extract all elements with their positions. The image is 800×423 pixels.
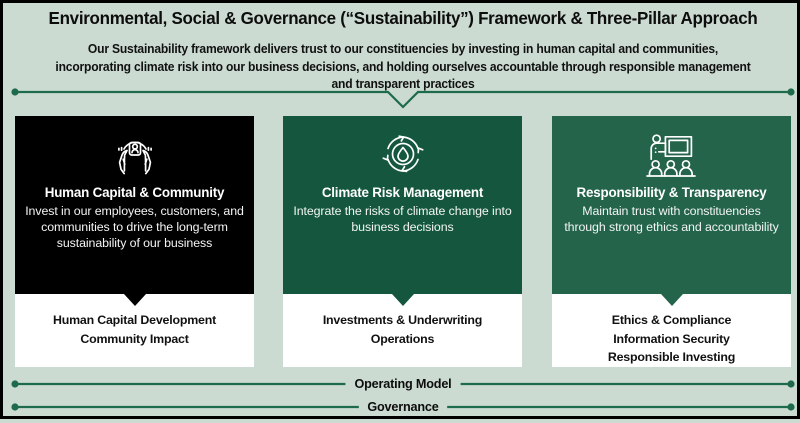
connector-path (15, 92, 791, 107)
governance-label: Governance (359, 400, 448, 414)
pillar-description: Integrate the risks of climate change in… (291, 203, 514, 235)
footer-bar-group: Operating Model Governance (3, 371, 800, 419)
footer-bar-governance: Governance (3, 396, 800, 418)
pillar-title: Climate Risk Management (291, 185, 514, 201)
pillar-header: Responsibility & Transparency Maintain t… (552, 116, 791, 294)
list-item[interactable]: Information Security (552, 330, 791, 349)
page-title: Environmental, Social & Governance (“Sus… (15, 8, 791, 29)
pillar-title: Responsibility & Transparency (560, 185, 783, 201)
list-item[interactable]: Human Capital Development (15, 311, 254, 330)
pillar-card-human-capital-community[interactable]: Human Capital & Community Invest in our … (15, 116, 254, 367)
hands-holding-person-icon (23, 126, 246, 182)
governance-label-wrap: Governance (19, 396, 787, 418)
connector-right-dot (787, 88, 794, 95)
operating-model-label: Operating Model (346, 377, 460, 391)
pillar-description: Maintain trust with constituencies throu… (560, 203, 783, 235)
pillar-chevron-icon (124, 294, 146, 306)
connector-left-dot (11, 88, 18, 95)
presenter-audience-icon (560, 126, 783, 182)
footer-bar-operating-model: Operating Model (3, 373, 800, 395)
pillar-header: Human Capital & Community Invest in our … (15, 116, 254, 294)
pillar-card-group: Human Capital & Community Invest in our … (3, 116, 800, 367)
page-subtitle: Our Sustainability framework delivers tr… (54, 41, 753, 94)
infographic-root: Environmental, Social & Governance (“Sus… (0, 0, 800, 419)
pillar-card-climate-risk-management[interactable]: Climate Risk Management Integrate the ri… (283, 116, 522, 367)
list-item[interactable]: Ethics & Compliance (552, 311, 791, 330)
water-droplet-cycle-icon (291, 126, 514, 182)
list-item[interactable]: Community Impact (15, 330, 254, 349)
pillar-header: Climate Risk Management Integrate the ri… (283, 116, 522, 294)
connector-svg (3, 87, 800, 113)
pillar-chevron-icon (661, 294, 683, 306)
list-item[interactable]: Investments & Underwriting (283, 311, 522, 330)
top-bracket-connector (3, 87, 800, 113)
pillar-card-responsibility-transparency[interactable]: Responsibility & Transparency Maintain t… (552, 116, 791, 367)
list-item[interactable]: Responsible Investing (552, 348, 791, 367)
operating-model-label-wrap: Operating Model (19, 373, 787, 395)
pillar-description: Invest in our employees, customers, and … (23, 203, 246, 252)
pillar-title: Human Capital & Community (23, 185, 246, 201)
pillar-chevron-icon (392, 294, 414, 306)
list-item[interactable]: Operations (283, 330, 522, 349)
